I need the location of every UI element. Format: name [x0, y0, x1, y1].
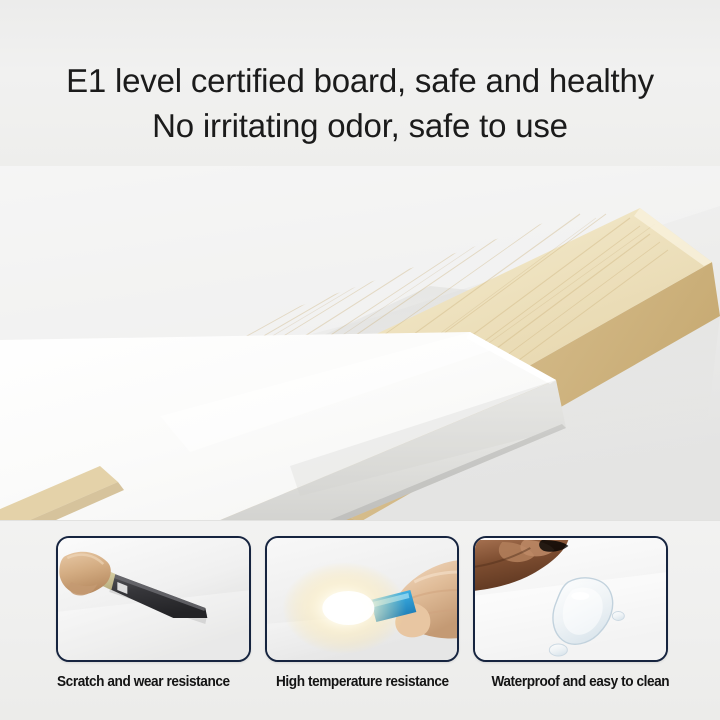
feature-panels — [56, 536, 668, 658]
caption-heat: High temperature resistance — [259, 672, 465, 692]
product-infographic: E1 level certified board, safe and healt… — [0, 0, 720, 720]
caption-waterproof: Waterproof and easy to clean — [478, 672, 684, 692]
hand-scraping-board-with-blade-icon — [58, 538, 249, 660]
headline-block: E1 level certified board, safe and healt… — [0, 0, 720, 172]
feature-panel-waterproof[interactable] — [473, 536, 668, 662]
caption-scratch: Scratch and wear resistance — [41, 672, 247, 692]
board-illustration — [0, 166, 720, 522]
strip-divider — [0, 520, 720, 521]
feature-strip: Scratch and wear resistance High tempera… — [0, 520, 720, 720]
feature-panel-heat[interactable] — [265, 536, 460, 662]
headline-line-2: No irritating odor, safe to use — [0, 103, 720, 148]
hand-wiping-water-spill-on-board-icon — [475, 538, 666, 660]
feature-panel-scratch[interactable] — [56, 536, 251, 662]
feature-captions: Scratch and wear resistance High tempera… — [34, 672, 690, 692]
hero-product-photo — [0, 166, 720, 522]
headline-line-1: E1 level certified board, safe and healt… — [0, 58, 720, 103]
hand-holding-lit-blue-lighter-flame-icon — [267, 538, 458, 660]
